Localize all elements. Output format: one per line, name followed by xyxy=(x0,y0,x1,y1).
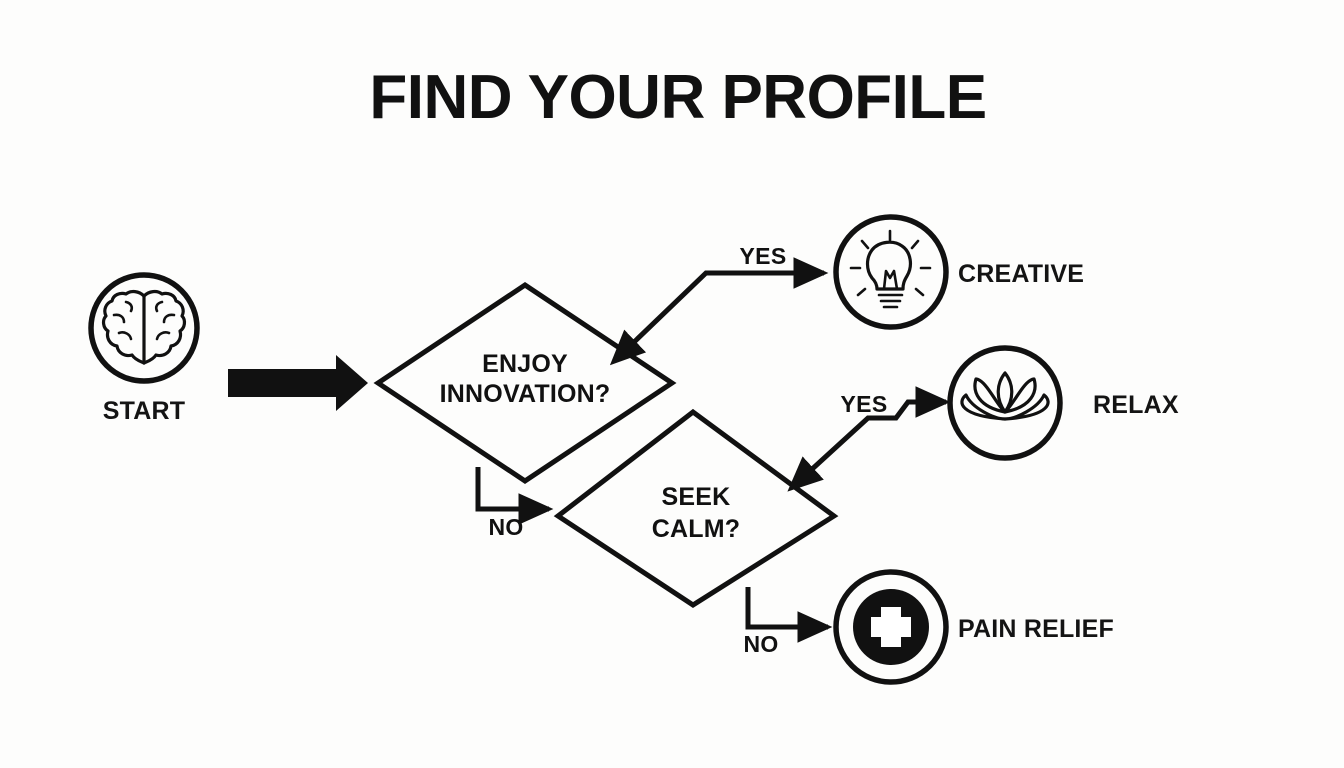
edge-no-seek-calm: NO xyxy=(478,467,549,540)
edge-label-yes-1: YES xyxy=(740,243,787,269)
start-to-decision-arrow xyxy=(228,355,368,411)
lotus-icon xyxy=(962,373,1048,419)
decision-1-line1: ENJOY xyxy=(482,350,568,378)
decision-enjoy-innovation[interactable]: ENJOY INNOVATION? xyxy=(378,285,672,481)
medical-cross-icon xyxy=(853,589,929,665)
edge-yes-creative: YES xyxy=(632,243,824,344)
brain-icon xyxy=(104,292,185,363)
outcome-creative[interactable]: CREATIVE xyxy=(836,217,1084,327)
edge-no-pain-relief: NO xyxy=(743,587,828,657)
decision-2-line1: SEEK xyxy=(662,483,731,511)
edge-yes-creative-line xyxy=(632,273,824,344)
decision-2-line2: CALM? xyxy=(652,515,740,543)
start-label: START xyxy=(103,397,185,425)
edge-no-pain-relief-line xyxy=(748,587,828,627)
edge-label-yes-2: YES xyxy=(841,391,888,417)
flowchart-canvas: FIND YOUR PROFILE START xyxy=(0,0,1344,768)
outcome-relax[interactable]: RELAX xyxy=(950,348,1179,458)
edge-label-no-2: NO xyxy=(743,631,778,657)
relax-label: RELAX xyxy=(1093,391,1179,419)
creative-label: CREATIVE xyxy=(958,260,1084,288)
decision-seek-calm[interactable]: SEEK CALM? xyxy=(558,412,834,605)
start-node[interactable]: START xyxy=(91,275,197,425)
page-title: FIND YOUR PROFILE xyxy=(369,63,986,132)
edge-label-no-1: NO xyxy=(488,514,523,540)
pain-relief-label: PAIN RELIEF xyxy=(958,615,1114,643)
lightbulb-icon xyxy=(851,231,930,307)
edge-yes-relax: YES xyxy=(810,391,946,471)
decision-1-line2: INNOVATION? xyxy=(440,380,611,408)
relax-node-circle xyxy=(950,348,1060,458)
flowchart-svg: FIND YOUR PROFILE START xyxy=(0,0,1344,768)
outcome-pain-relief[interactable]: PAIN RELIEF xyxy=(836,572,1114,682)
